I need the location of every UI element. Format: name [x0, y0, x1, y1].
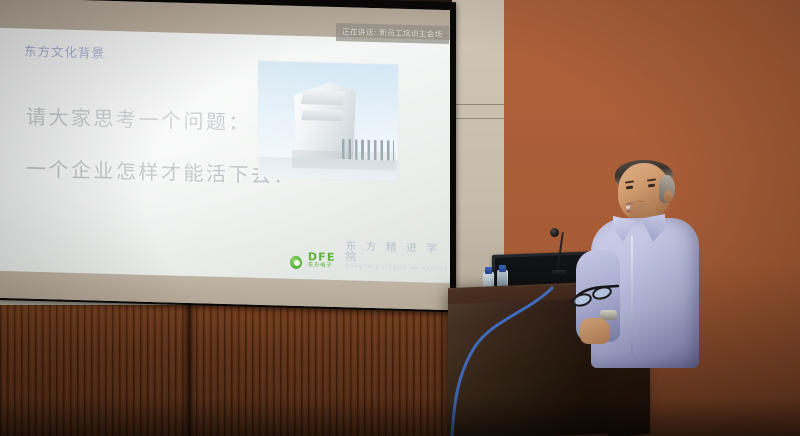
sculpture-stroke-icon	[301, 110, 342, 121]
brand-abbreviation: DFE	[308, 251, 336, 263]
blue-cable	[440, 286, 560, 436]
column-seam	[452, 118, 504, 119]
institute-name-en: Dongfang Jingjin University	[346, 263, 450, 273]
projection-screen: 东方文化背景 请大家思考一个问题： 一个企业怎样才能活下去？ DFE 东方电子	[0, 0, 450, 310]
speaker-hand	[580, 318, 610, 344]
microphone-base	[552, 270, 566, 275]
slide-body-line-1: 请大家思考一个问题：	[26, 101, 251, 136]
sculpture-stroke-icon	[301, 90, 345, 105]
image-watermark	[292, 150, 396, 171]
speaker-ear	[664, 190, 673, 203]
microphone-head-icon	[550, 228, 559, 237]
wall-left-shading	[0, 300, 462, 436]
slide-footer-logo: DFE 东方电子 东 方 精 进 学 院 Dongfang Jingjin Un…	[290, 240, 450, 273]
slide-title: 东方文化背景	[24, 41, 105, 62]
leaf-circle-icon	[290, 256, 302, 269]
slide-body-line-2: 一个企业怎样才能活下去？	[26, 153, 296, 189]
slide-image-win-sculpture	[258, 61, 398, 181]
lecture-hall-photo: 东方文化背景 请大家思考一个问题： 一个企业怎样才能活下去？ DFE 东方电子	[0, 0, 800, 436]
column-seam	[452, 104, 504, 105]
brand-name-cn: 东方电子	[308, 262, 336, 270]
institute-name-cn: 东 方 精 进 学 院	[346, 241, 450, 266]
eyeglasses-icon	[568, 284, 620, 310]
status-banner: 正在讲话: 新员工培训主会场	[336, 23, 449, 44]
presentation-slide: 东方文化背景 请大家思考一个问题： 一个企业怎样才能活下去？ DFE 东方电子	[0, 28, 450, 283]
shirt-placket	[631, 236, 633, 354]
wall-panel-seam	[183, 300, 195, 436]
